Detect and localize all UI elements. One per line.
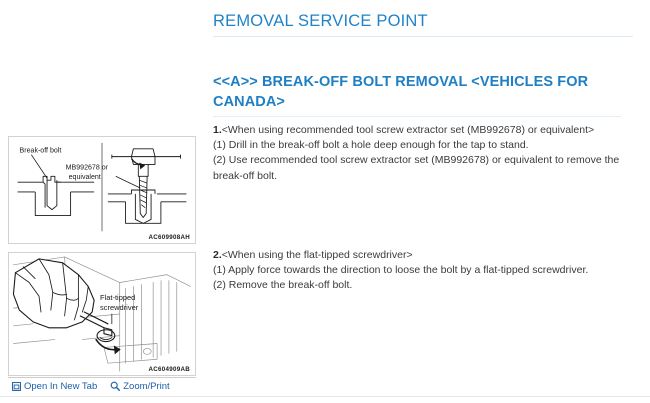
step-2-title: 2.<When using the flat-tipped screwdrive… [213,248,641,263]
figure-1-drawing: Break-off bolt MB992678 or equivalent [9,137,195,243]
content-column: REMOVAL SERVICE POINT <<A>> BREAK-OFF BO… [207,0,650,403]
figure-2-callout-line1: Flat-tipped [100,293,135,302]
figure-1-callout-right-line2: equivalent [69,174,101,181]
open-in-new-tab-label: Open In New Tab [24,381,97,392]
zoom-print-link[interactable]: Zoom/Print [110,381,169,392]
step-1-line-1: (1) Drill in the break-off bolt a hole d… [213,138,641,153]
figure-1-callout-left: Break-off bolt [20,148,62,155]
figure-2-code: AC604909AB [148,366,190,373]
figure-2-callout-line2: screwdriver [100,303,139,312]
step-2-number: 2. [213,249,222,261]
step-2-line-2: (2) Remove the break-off bolt. [213,278,641,293]
magnifier-icon [110,381,120,391]
figure-2-drawing: Flat-tipped screwdriver [9,253,195,375]
external-window-icon [12,382,21,391]
bottom-divider [0,396,650,397]
step-1-line-2: (2) Use recommended tool screw extractor… [213,153,641,183]
step-1-number: 1. [213,124,222,136]
step-1-title: 1.<When using recommended tool screw ext… [213,123,641,138]
step-2-title-text: <When using the flat-tipped screwdriver> [222,249,413,261]
figure-break-off-bolt-diagram[interactable]: Break-off bolt MB992678 or equivalent AC… [8,136,196,244]
figure-1-code: AC609908AH [148,234,190,241]
step-block-1: 1.<When using recommended tool screw ext… [213,123,641,184]
open-in-new-tab-link[interactable]: Open In New Tab [12,381,97,392]
page-title: REMOVAL SERVICE POINT [213,12,633,37]
zoom-print-label: Zoom/Print [123,381,169,392]
figure-action-bar: Open In New Tab Zoom/Print [8,377,196,394]
step-2-line-1: (1) Apply force towards the direction to… [213,263,641,278]
step-block-2: 2.<When using the flat-tipped screwdrive… [213,248,641,294]
section-heading: <<A>> BREAK-OFF BOLT REMOVAL <VEHICLES F… [213,72,621,117]
figure-1-callout-right-line1: MB992678 or [66,164,109,171]
figure-flat-tipped-screwdriver-photo[interactable]: Flat-tipped screwdriver AC604909AB [8,252,196,376]
step-1-title-text: <When using recommended tool screw extra… [222,124,594,136]
figure-column: Break-off bolt MB992678 or equivalent AC… [0,0,207,403]
